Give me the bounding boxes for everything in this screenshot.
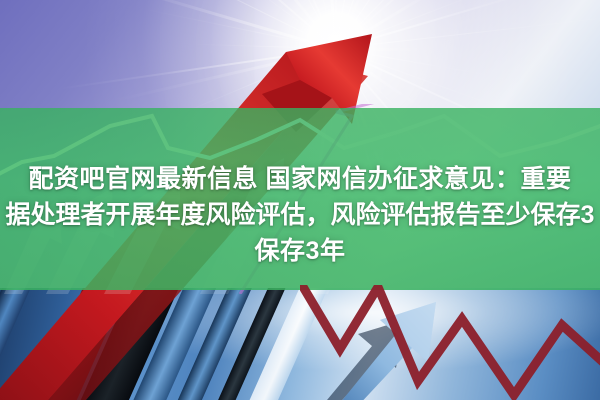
banner-image: 配资吧官网最新信息 国家网信办征求意见：重要 据处理者开展年度风险评估，风险评估… [0, 0, 600, 400]
ghost-up-arrows [0, 104, 600, 294]
dark-red-zigzag [300, 285, 600, 400]
